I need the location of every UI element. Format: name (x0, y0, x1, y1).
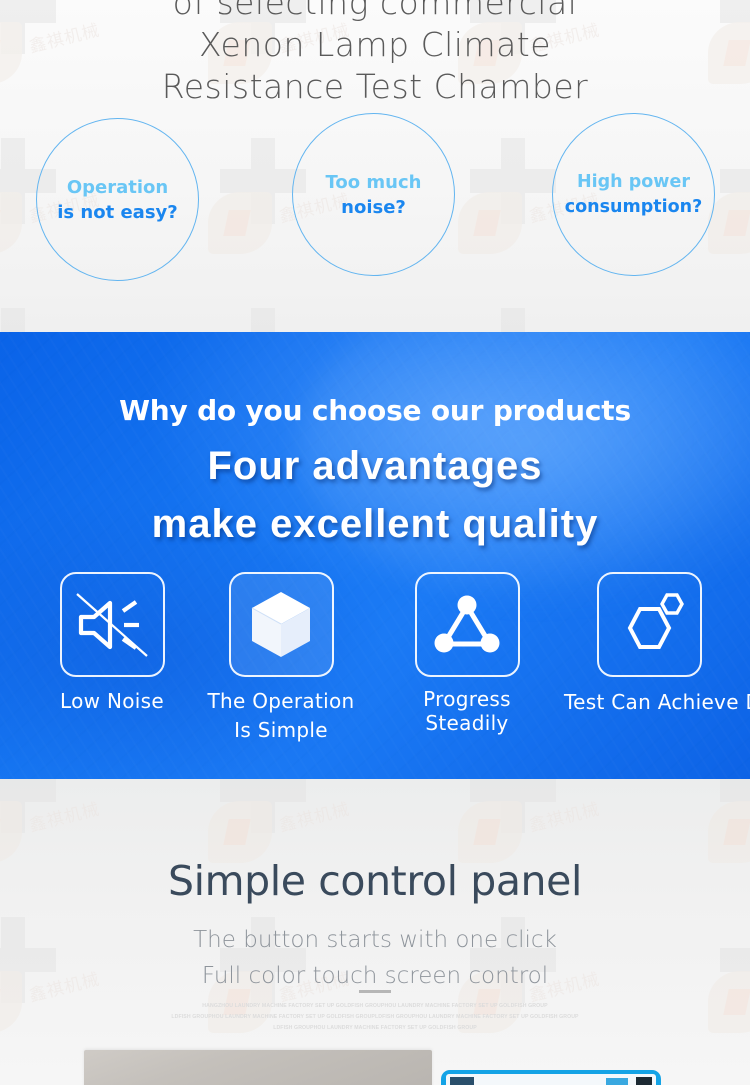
advantages-subheadline-line-1: Four advantages (0, 437, 750, 495)
watermark-logo-inner (473, 819, 501, 845)
watermark-tile: 鑫祺机械 (690, 1079, 750, 1085)
circle-line-2: noise? (341, 195, 406, 220)
watermark-line-3: LDFISH GROUPHOU LAUNDRY MACHINE FACTORY … (0, 1023, 750, 1034)
watermark-cross-icon (0, 308, 56, 332)
hexagons-icon (611, 591, 687, 659)
screen-widget-right-1 (606, 1078, 628, 1085)
watermark-logo-icon (708, 801, 750, 863)
pain-point-circle-power: High power consumption? (552, 113, 715, 276)
watermark-cross-icon (720, 779, 750, 833)
advantage-icon-box (415, 572, 520, 677)
control-panel-subtitle-line-2: Full color touch screen control (0, 958, 750, 994)
advantage-item-diversification: Test Can Achieve Diversification (564, 572, 734, 717)
circle-line-1: Too much (326, 170, 422, 195)
page-root: 鑫祺机械鑫祺机械鑫祺机械鑫祺机械鑫祺机械鑫祺机械鑫祺机械鑫祺机械鑫祺机械鑫祺机械… (0, 0, 750, 1085)
control-panel-title: Simple control panel (0, 857, 750, 905)
circle-line-2: consumption? (565, 195, 703, 220)
watermark-tile: 鑫祺机械 (440, 300, 690, 332)
touch-screen-display (446, 1074, 656, 1085)
circle-line-1: High power (577, 170, 690, 195)
hero-section: 鑫祺机械鑫祺机械鑫祺机械鑫祺机械鑫祺机械鑫祺机械鑫祺机械鑫祺机械鑫祺机械鑫祺机械… (0, 0, 750, 332)
control-panel-section: 鑫祺机械鑫祺机械鑫祺机械鑫祺机械鑫祺机械鑫祺机械鑫祺机械鑫祺机械鑫祺机械鑫祺机械… (0, 779, 750, 1085)
advantage-icon-box (597, 572, 702, 677)
advantage-item-progress-steadily: Progress Steadily (382, 572, 552, 735)
watermark-logo-icon (208, 801, 272, 863)
watermark-logo-icon (0, 801, 22, 863)
section-divider (359, 990, 391, 993)
pain-point-circle-operation: Operation is not easy? (36, 118, 199, 281)
advantages-section: Why do you choose our products Four adva… (0, 332, 750, 779)
watermark-cjk-text: 鑫祺机械 (526, 795, 602, 837)
advantage-item-low-noise: Low Noise (27, 572, 197, 716)
cube-icon (248, 589, 314, 661)
control-panel-subtitle: The button starts with one click Full co… (0, 922, 750, 994)
watermark-tile: 鑫祺机械 (690, 300, 750, 332)
advantages-subheadline: Four advantages make excellent quality (0, 437, 750, 553)
product-photo-body (84, 1050, 432, 1085)
factory-watermark-text: HANGZHOU LAUNDRY MACHINE FACTORY SET UP … (0, 1001, 750, 1034)
triangle-nodes-icon (434, 594, 500, 656)
page-title-line-3: Resistance Test Chamber (0, 66, 750, 108)
page-title-line-2: Xenon Lamp Climate (0, 24, 750, 66)
advantages-subheadline-line-2: make excellent quality (0, 495, 750, 553)
advantage-icon-box (60, 572, 165, 677)
watermark-cross-icon (470, 308, 556, 332)
watermark-tile: 鑫祺机械 (0, 300, 190, 332)
screen-widget-right-2 (636, 1077, 652, 1085)
watermark-cross-icon (0, 779, 56, 833)
watermark-line-2: LDFISH GROUPHOU LAUNDRY MACHINE FACTORY … (0, 1012, 750, 1023)
circle-line-1: Operation (67, 175, 168, 200)
watermark-tile: 鑫祺机械 (190, 300, 440, 332)
watermark-logo-inner (0, 819, 1, 845)
advantage-label: Test Can Achieve Diversification (564, 687, 734, 717)
watermark-cross-icon (720, 308, 750, 332)
advantage-icon-box (229, 572, 334, 677)
watermark-cross-icon (470, 779, 556, 833)
circle-line-2: is not easy? (57, 200, 177, 225)
advantage-label: The Operation Is Simple (196, 687, 366, 745)
watermark-logo-icon (458, 801, 522, 863)
control-panel-subtitle-line-1: The button starts with one click (0, 922, 750, 958)
advantages-headline: Why do you choose our products (0, 394, 750, 427)
page-title: of selecting commercial Xenon Lamp Clima… (0, 0, 750, 108)
watermark-logo-inner (723, 819, 750, 845)
watermark-cjk-text: 鑫祺机械 (276, 795, 352, 837)
watermark-cross-icon (220, 308, 306, 332)
advantage-label: Progress Steadily (382, 687, 552, 735)
watermark-line-1: HANGZHOU LAUNDRY MACHINE FACTORY SET UP … (0, 1001, 750, 1012)
page-title-line-1: of selecting commercial (0, 0, 750, 24)
pain-point-circles: Operation is not easy? Too much noise? H… (0, 113, 750, 283)
advantages-grid: Low Noise The Operation Is Simple (0, 572, 750, 772)
screen-widget-left (450, 1077, 474, 1085)
watermark-cross-icon (220, 779, 306, 833)
advantage-item-simple-operation: The Operation Is Simple (196, 572, 366, 745)
watermark-cjk-text: 鑫祺机械 (26, 795, 102, 837)
advantage-label: Low Noise (27, 687, 197, 716)
pain-point-circle-noise: Too much noise? (292, 113, 455, 276)
product-touch-screen (441, 1070, 661, 1085)
watermark-logo-inner (223, 819, 251, 845)
mute-speaker-icon (75, 592, 149, 658)
